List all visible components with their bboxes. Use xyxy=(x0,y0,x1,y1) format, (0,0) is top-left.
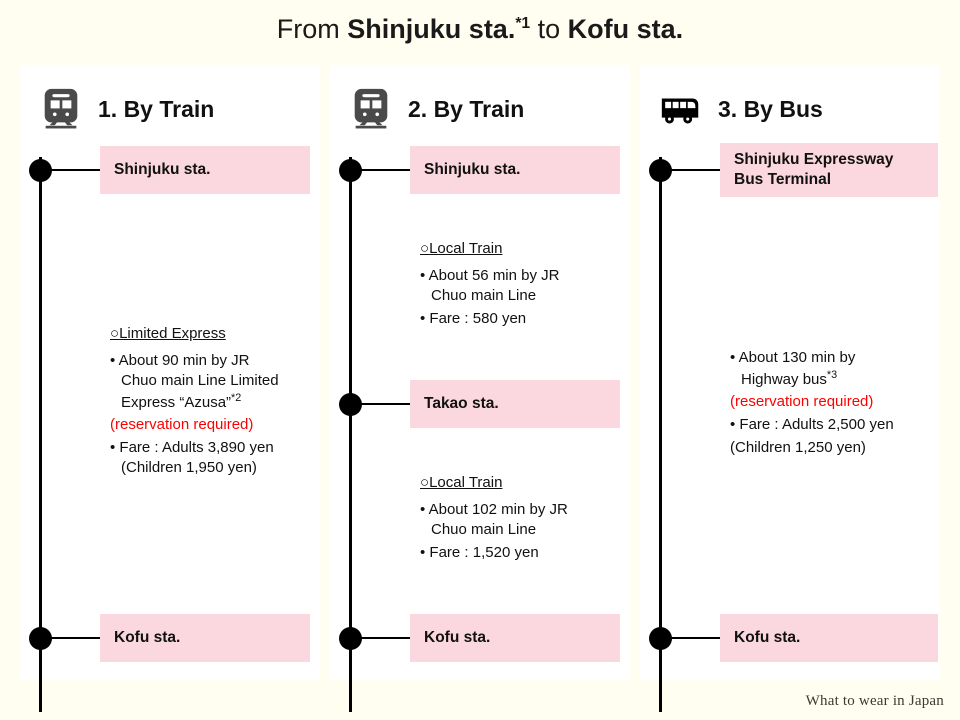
timeline-dot xyxy=(339,393,362,416)
bullet: • xyxy=(730,349,739,366)
title-destination: Kofu sta. xyxy=(568,14,684,44)
segment-kind-marker: ○ xyxy=(420,474,429,491)
station-box: Shinjuku sta. xyxy=(410,146,620,194)
segment-kind: ○Local Train xyxy=(420,238,502,260)
column-heading: 3. By Bus xyxy=(718,96,823,123)
bullet: • xyxy=(420,267,429,284)
timeline-connector xyxy=(50,169,102,171)
segment-kind-label: Limited Express xyxy=(119,325,226,342)
segment-line-text: Fare : Adults 3,890 yen (Children 1,950 … xyxy=(119,439,273,476)
title-to: to xyxy=(530,14,568,44)
station-name: Kofu sta. xyxy=(114,628,180,648)
segment-line-trailing: (Children 1,250 yen) xyxy=(730,438,945,458)
segment-kind-label: Local Train xyxy=(429,474,502,491)
column-header: 3. By Bus xyxy=(658,81,823,137)
segment-line: • Fare : 1,520 yen xyxy=(420,543,635,563)
segment-line-text: Fare : Adults 2,500 yen xyxy=(739,416,893,433)
station-name: Shinjuku Expressway Bus Terminal xyxy=(734,150,893,191)
page-title: From Shinjuku sta.*1 to Kofu sta. xyxy=(0,14,960,45)
station-name: Shinjuku sta. xyxy=(114,160,210,180)
infographic-root: From Shinjuku sta.*1 to Kofu sta. 1. By … xyxy=(0,0,960,720)
segment-footnote: *2 xyxy=(231,392,241,404)
title-origin-footnote: *1 xyxy=(515,15,530,32)
segment-kind-marker: ○ xyxy=(420,240,429,257)
segment-line-text: About 102 min by JR Chuo main Line xyxy=(429,501,568,538)
timeline-dot xyxy=(649,627,672,650)
column-header: 1. By Train xyxy=(38,81,214,137)
segment-line: • Fare : Adults 2,500 yen xyxy=(730,415,945,435)
column-heading: 1. By Train xyxy=(98,96,214,123)
segment-line: • Fare : 580 yen xyxy=(420,309,635,329)
station-box: Shinjuku sta. xyxy=(100,146,310,194)
station-name: Takao sta. xyxy=(424,394,499,414)
station-name: Kofu sta. xyxy=(734,628,800,648)
timeline-connector xyxy=(670,637,722,639)
segment-line: • Fare : Adults 3,890 yen (Children 1,95… xyxy=(110,438,325,479)
bus-icon xyxy=(658,86,704,132)
reservation-warning: (reservation required) xyxy=(110,415,325,435)
timeline-dot xyxy=(649,159,672,182)
timeline-dot xyxy=(339,159,362,182)
bullet: • xyxy=(420,310,429,327)
segment-details: ○Local Train • About 56 min by JR Chuo m… xyxy=(420,238,635,330)
station-box: Kofu sta. xyxy=(100,614,310,662)
segment-kind: ○Limited Express xyxy=(110,323,226,345)
segment-details: ○Limited Express • About 90 min by JR Ch… xyxy=(110,323,325,478)
timeline-dot xyxy=(339,627,362,650)
segment-kind-label: Local Train xyxy=(429,240,502,257)
footer-watermark: What to wear in Japan xyxy=(806,693,944,710)
segment-line: • About 90 min by JR Chuo main Line Limi… xyxy=(110,351,325,414)
segment-kind-marker: ○ xyxy=(110,325,119,342)
segment-line: • About 102 min by JR Chuo main Line xyxy=(420,500,635,541)
timeline-connector xyxy=(670,169,722,171)
route-column-train-limited-express: 1. By Train Shinjuku sta. ○Limited Expre… xyxy=(20,65,320,680)
timeline-connector xyxy=(360,637,412,639)
bullet: • xyxy=(730,416,739,433)
route-column-bus: 3. By Bus Shinjuku Expressway Bus Termin… xyxy=(640,65,940,680)
timeline-connector xyxy=(360,169,412,171)
timeline-dot xyxy=(29,627,52,650)
segment-footnote: *3 xyxy=(827,369,837,381)
segment-line: • About 56 min by JR Chuo main Line xyxy=(420,266,635,307)
segment-line-text: About 90 min by JR Chuo main Line Limite… xyxy=(119,352,279,412)
segment-kind: ○Local Train xyxy=(420,472,502,494)
train-icon xyxy=(38,86,84,132)
segment-line-text: About 56 min by JR Chuo main Line xyxy=(429,267,560,304)
station-box: Kofu sta. xyxy=(720,614,938,662)
title-origin: Shinjuku sta. xyxy=(347,14,515,44)
title-from: From xyxy=(277,14,348,44)
station-box: Kofu sta. xyxy=(410,614,620,662)
bullet: • xyxy=(420,501,429,518)
route-column-train-local: 2. By Train Shinjuku sta. ○Local Train •… xyxy=(330,65,630,680)
station-box: Takao sta. xyxy=(410,380,620,428)
segment-line: • About 130 min by Highway bus*3 xyxy=(730,348,945,391)
timeline-connector xyxy=(50,637,102,639)
segment-details: • About 130 min by Highway bus*3 (reserv… xyxy=(730,348,945,458)
bullet: • xyxy=(110,352,119,369)
reservation-warning: (reservation required) xyxy=(730,392,945,412)
bullet: • xyxy=(420,544,429,561)
bullet: • xyxy=(110,439,119,456)
timeline-dot xyxy=(29,159,52,182)
timeline-connector xyxy=(360,403,412,405)
station-name: Shinjuku sta. xyxy=(424,160,520,180)
route-columns: 1. By Train Shinjuku sta. ○Limited Expre… xyxy=(20,65,940,680)
train-icon xyxy=(348,86,394,132)
segment-line-text: Fare : 580 yen xyxy=(429,310,526,327)
station-name: Kofu sta. xyxy=(424,628,490,648)
segment-line-text: About 130 min by Highway bus xyxy=(739,349,856,388)
segment-details: ○Local Train • About 102 min by JR Chuo … xyxy=(420,472,635,564)
column-heading: 2. By Train xyxy=(408,96,524,123)
segment-line-text: Fare : 1,520 yen xyxy=(429,544,538,561)
station-box: Shinjuku Expressway Bus Terminal xyxy=(720,143,938,197)
column-header: 2. By Train xyxy=(348,81,524,137)
